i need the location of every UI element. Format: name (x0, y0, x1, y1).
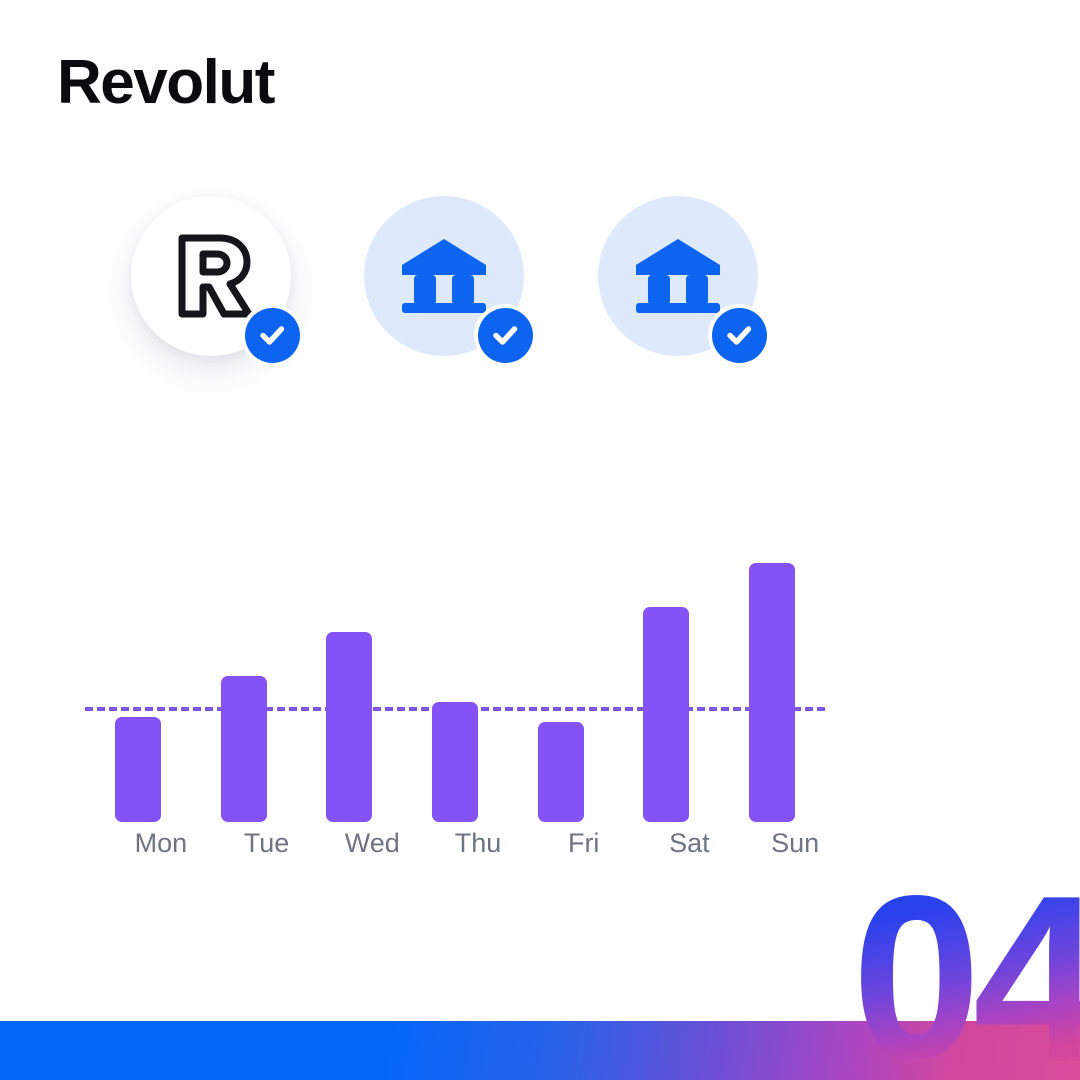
slide-canvas: Revolut (0, 0, 1080, 1080)
chart-bar[interactable] (432, 702, 478, 822)
verified-check-badge (708, 304, 770, 366)
verified-check-badge (474, 304, 536, 366)
chart-x-axis-labels: MonTueWedThuFriSatSun (85, 828, 825, 872)
chart-bar[interactable] (643, 607, 689, 822)
chart-label-thu: Thu (423, 828, 533, 859)
weekly-spending-chart: MonTueWedThuFriSatSun (0, 540, 1080, 890)
verified-check-badge (241, 304, 303, 366)
page-number: 04 (852, 862, 1080, 1080)
chart-label-sun: Sun (740, 828, 850, 859)
account-badge-row (0, 196, 1080, 396)
revolut-wordmark: Revolut (57, 52, 274, 114)
chart-label-mon: Mon (106, 828, 216, 859)
chart-label-wed: Wed (317, 828, 427, 859)
account-badge-bank-2[interactable] (598, 196, 758, 356)
chart-bar[interactable] (538, 722, 584, 822)
chart-label-sat: Sat (634, 828, 744, 859)
check-icon (245, 308, 300, 363)
check-icon (712, 308, 767, 363)
chart-label-tue: Tue (212, 828, 322, 859)
chart-bar[interactable] (115, 717, 161, 822)
chart-bar[interactable] (221, 676, 267, 822)
account-badge-revolut[interactable] (131, 196, 291, 356)
chart-label-fri: Fri (529, 828, 639, 859)
check-icon (478, 308, 533, 363)
account-badge-bank-1[interactable] (364, 196, 524, 356)
chart-bar[interactable] (749, 563, 795, 822)
chart-bar[interactable] (326, 632, 372, 822)
chart-plot-area (85, 540, 825, 822)
